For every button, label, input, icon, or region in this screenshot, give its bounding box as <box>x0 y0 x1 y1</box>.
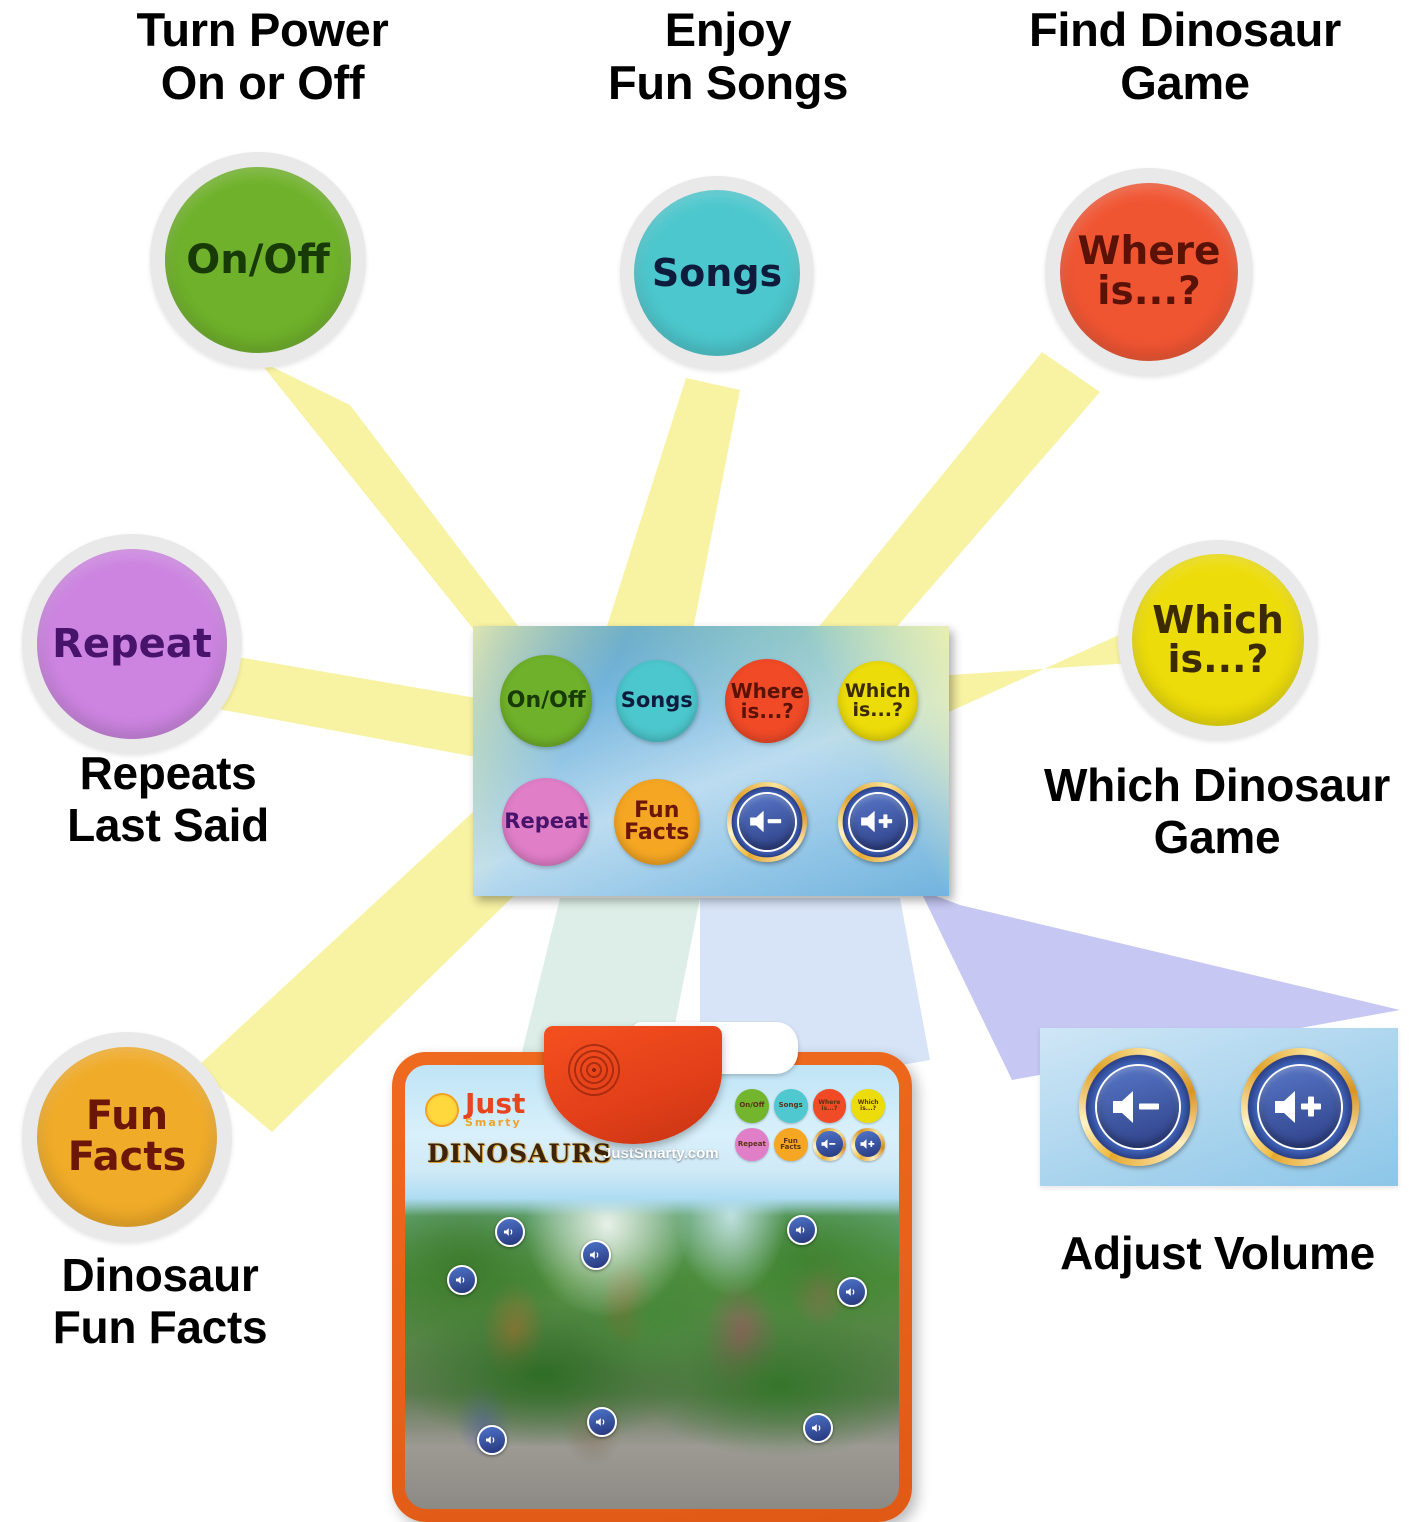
sun-icon <box>427 1095 457 1125</box>
volume-up-icon <box>858 808 898 835</box>
panel-button-on-off[interactable]: On/Off <box>500 655 592 747</box>
panel-button-where-is[interactable]: Where is...? <box>725 659 809 743</box>
panel-button-songs[interactable]: Songs <box>616 660 698 742</box>
speaker-icon <box>455 1275 469 1285</box>
panel-button-volume-down[interactable] <box>727 782 807 862</box>
callout-songs[interactable]: Songs <box>620 176 814 370</box>
brand-logo: Just Smarty <box>427 1091 525 1129</box>
callout-on-off[interactable]: On/Off <box>150 152 366 368</box>
panel-button-volume-up[interactable] <box>838 782 918 862</box>
mat-speaker-hotspot[interactable] <box>587 1407 617 1437</box>
infographic-stage: Turn Power On or Off Enjoy Fun Songs Fin… <box>0 0 1422 1500</box>
heading-songs: Enjoy Fun Songs <box>558 4 898 109</box>
callout-which-is[interactable]: Which is...? <box>1118 540 1318 740</box>
heading-where-is: Find Dinosaur Game <box>985 4 1385 109</box>
mat-button-which-is[interactable]: Which is...? <box>851 1089 885 1123</box>
speaker-icon <box>589 1250 603 1260</box>
mat-button-volume-up[interactable] <box>851 1128 885 1162</box>
mat-speaker-hotspot[interactable] <box>447 1265 477 1295</box>
fun-facts-button-face: Fun Facts <box>37 1047 218 1228</box>
mat-speaker-hotspot[interactable] <box>803 1413 833 1443</box>
speaker-icon <box>485 1435 499 1445</box>
panel-button-fun-facts[interactable]: Fun Facts <box>614 779 700 865</box>
speaker-icon <box>811 1423 825 1433</box>
volume-up-icon <box>855 1131 881 1157</box>
callout-volume[interactable] <box>1040 1028 1398 1186</box>
mat-button-volume-down[interactable] <box>813 1128 847 1162</box>
mat-speaker-hotspot[interactable] <box>495 1217 525 1247</box>
brand-smarty: Smarty <box>465 1116 525 1129</box>
volume-down-button-large[interactable] <box>1079 1048 1197 1166</box>
volume-up-button-large[interactable] <box>1241 1048 1359 1166</box>
callout-repeat[interactable]: Repeat <box>22 534 242 754</box>
mat-speaker-hotspot[interactable] <box>581 1240 611 1270</box>
control-panel-closeup: On/Off Songs Where is...? Which is...? R… <box>473 626 949 896</box>
mat-speaker-hotspot[interactable] <box>477 1425 507 1455</box>
on-off-button-face: On/Off <box>165 167 351 353</box>
heading-fun-facts: Dinosaur Fun Facts <box>0 1250 320 1353</box>
songs-button-face: Songs <box>634 190 801 357</box>
heading-volume: Adjust Volume <box>1030 1228 1405 1280</box>
speaker-icon <box>503 1227 517 1237</box>
speaker-icon <box>595 1417 609 1427</box>
panel-button-repeat[interactable]: Repeat <box>502 778 590 866</box>
pod-body[interactable] <box>544 1026 722 1144</box>
callout-fun-facts[interactable]: Fun Facts <box>22 1032 232 1242</box>
speaker-icon <box>845 1287 859 1297</box>
repeat-button-face: Repeat <box>37 549 226 738</box>
callout-where-is[interactable]: Where is...? <box>1045 168 1253 376</box>
volume-down-icon <box>747 808 787 835</box>
which-is-button-face: Which is...? <box>1132 554 1304 726</box>
panel-button-which-is[interactable]: Which is...? <box>838 661 918 741</box>
heading-repeat: Repeats Last Said <box>8 748 328 851</box>
heading-which-is: Which Dinosaur Game <box>1012 760 1422 863</box>
volume-down-icon <box>1109 1087 1167 1127</box>
product-photo: Just Smarty DINOSAURS JustSmarty.com On/… <box>392 1052 912 1522</box>
speaker-icon <box>795 1225 809 1235</box>
where-is-button-face: Where is...? <box>1060 183 1239 362</box>
control-panel-grid: On/Off Songs Where is...? Which is...? R… <box>473 626 949 896</box>
speaker-pod: Just Smarty <box>544 1024 794 1154</box>
mat-button-where-is[interactable]: Where is...? <box>813 1089 847 1123</box>
mat-speaker-hotspot[interactable] <box>837 1277 867 1307</box>
brand-just: Just <box>465 1091 525 1116</box>
heading-on-off: Turn Power On or Off <box>90 4 435 109</box>
volume-up-icon <box>1271 1087 1329 1127</box>
volume-down-icon <box>816 1131 842 1157</box>
mat-speaker-hotspot[interactable] <box>787 1215 817 1245</box>
speaker-grill-icon <box>564 1040 624 1100</box>
